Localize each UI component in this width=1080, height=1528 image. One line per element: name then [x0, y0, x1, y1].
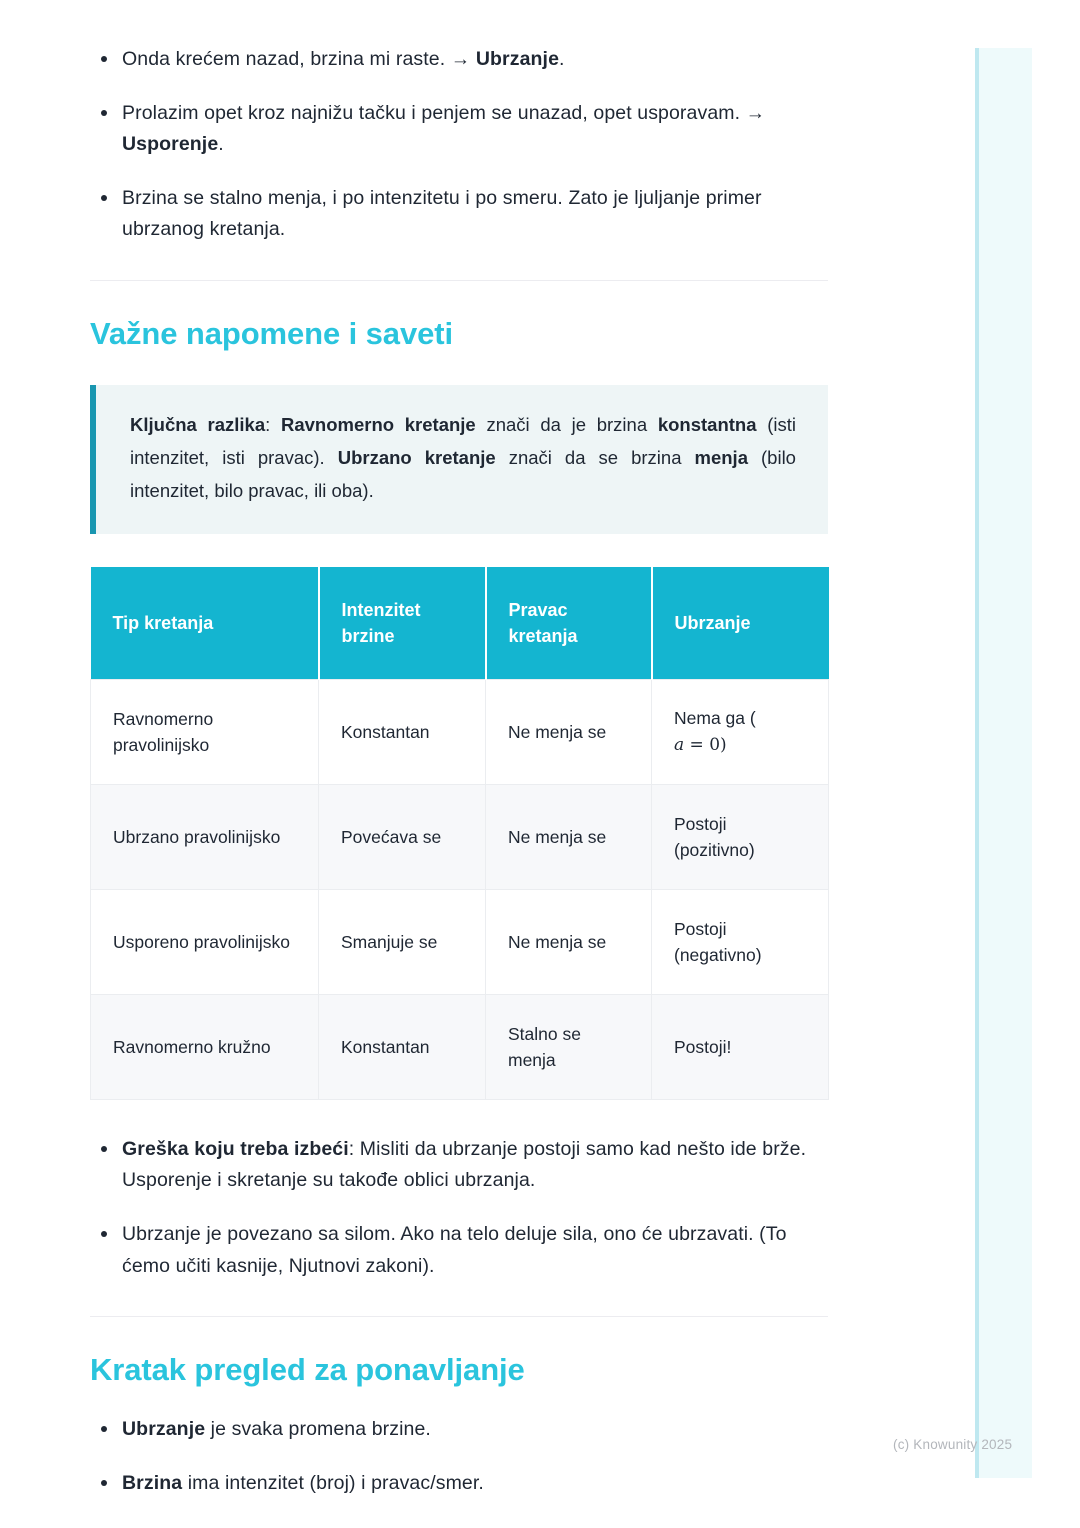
section-divider-bottom — [90, 1316, 828, 1317]
cell-pravac-kretanja: Stalno se menja — [486, 994, 652, 1099]
body-text: : — [265, 414, 281, 435]
cell-tip-kretanja: Ravnomerno kružno — [91, 994, 319, 1099]
bullet-dot-icon — [101, 56, 107, 62]
page-content: Onda krećem nazad, brzina mi raste. → Ub… — [90, 44, 830, 1500]
table-row: Usporeno pravolinijskoSmanjuje seNe menj… — [91, 889, 829, 994]
body-text: je svaka promena brzine. — [205, 1418, 431, 1440]
bullet-dot-icon — [101, 1426, 107, 1432]
table-header-row: Tip kretanja Intenzitet brzine Pravac kr… — [91, 567, 829, 680]
table-header-intenzitet-brzine: Intenzitet brzine — [319, 567, 486, 680]
bullet-dot-icon — [101, 1146, 107, 1152]
table-header-pravac-kretanja: Pravac kretanja — [486, 567, 652, 680]
body-text: . — [559, 48, 565, 70]
list-item: Brzina ima intenzitet (broj) i pravac/sm… — [90, 1468, 830, 1500]
body-text: Ubrzanje je povezano sa silom. Ako na te… — [122, 1223, 787, 1277]
table-row: Ravnomerno kružnoKonstantanStalno se men… — [91, 994, 829, 1099]
bullet-dot-icon — [101, 195, 107, 201]
list-item: Greška koju treba izbeći: Misliti da ubr… — [90, 1134, 830, 1197]
cell-intenzitet-brzine: Konstantan — [319, 679, 486, 784]
cell-tip-kretanja: Ubrzano pravolinijsko — [91, 784, 319, 889]
cell-pravac-kretanja: Ne menja se — [486, 889, 652, 994]
emphasis-text: menja — [695, 447, 748, 468]
table-header-ubrzanje: Ubrzanje — [652, 567, 829, 680]
cell-tip-kretanja: Usporeno pravolinijsko — [91, 889, 319, 994]
list-item: Ubrzanje je povezano sa silom. Ako na te… — [90, 1219, 830, 1282]
emphasis-text: Usporenje — [122, 133, 218, 155]
callout-text: Ključna razlika: Ravnomerno kretanje zna… — [130, 409, 796, 508]
bullet-dot-icon — [101, 1480, 107, 1486]
note-page: Onda krećem nazad, brzina mi raste. → Ub… — [0, 0, 1080, 1528]
table-header-tip-kretanja: Tip kretanja — [91, 567, 319, 680]
body-text: znači da se brzina — [496, 447, 695, 468]
cell-intenzitet-brzine: Smanjuje se — [319, 889, 486, 994]
list-item: Brzina se stalno menja, i po intenzitetu… — [90, 183, 830, 246]
motion-comparison-table: Tip kretanja Intenzitet brzine Pravac kr… — [90, 567, 829, 1100]
cell-tip-kretanja: Ravnomerno pravolinijsko — [91, 679, 319, 784]
body-text: Prolazim opet kroz najnižu tačku i penje… — [122, 102, 765, 124]
cell-intenzitet-brzine: Povećava se — [319, 784, 486, 889]
list-item: Ubrzanje je svaka promena brzine. — [90, 1414, 830, 1446]
cell-pravac-kretanja: Ne menja se — [486, 784, 652, 889]
emphasis-text: Ubrzanje — [476, 48, 559, 70]
bullet-dot-icon — [101, 1231, 107, 1237]
body-text: Brzina se stalno menja, i po intenzitetu… — [122, 187, 762, 241]
body-text: ima intenzitet (broj) i pravac/smer. — [182, 1472, 484, 1494]
summary-section-title: Kratak pregled za ponavljanje — [90, 1351, 830, 1388]
right-decorative-panel — [975, 48, 1032, 1478]
emphasis-text: Ključna razlika — [130, 414, 265, 435]
after-table-bullet-list: Greška koju treba izbeći: Misliti da ubr… — [90, 1134, 830, 1282]
emphasis-text: konstantna — [658, 414, 757, 435]
cell-pravac-kretanja: Ne menja se — [486, 679, 652, 784]
cell-intenzitet-brzine: Konstantan — [319, 994, 486, 1099]
body-text: . — [218, 133, 224, 155]
summary-bullet-list: Ubrzanje je svaka promena brzine.Brzina … — [90, 1414, 830, 1499]
emphasis-text: Ubrzanje — [122, 1418, 205, 1440]
emphasis-text: Ravnomerno kretanje — [281, 414, 476, 435]
math-expression: = 0) — [684, 735, 727, 755]
copyright-watermark: (c) Knowunity 2025 — [893, 1437, 1012, 1452]
list-item: Onda krećem nazad, brzina mi raste. → Ub… — [90, 44, 830, 76]
body-text: znači da je brzina — [476, 414, 658, 435]
cell-ubrzanje: Postoji! — [652, 994, 829, 1099]
bullet-dot-icon — [101, 110, 107, 116]
intro-bullet-list: Onda krećem nazad, brzina mi raste. → Ub… — [90, 44, 830, 246]
key-difference-callout: Ključna razlika: Ravnomerno kretanje zna… — [90, 385, 828, 534]
cell-ubrzanje: Postoji (negativno) — [652, 889, 829, 994]
math-variable: a — [674, 735, 684, 755]
table-row: Ubrzano pravolinijskoPovećava seNe menja… — [91, 784, 829, 889]
emphasis-text: Brzina — [122, 1472, 182, 1494]
section-divider-top — [90, 280, 828, 281]
list-item: Prolazim opet kroz najnižu tačku i penje… — [90, 98, 830, 161]
cell-ubrzanje: Postoji (pozitivno) — [652, 784, 829, 889]
cell-ubrzanje: Nema ga (a = 0) — [652, 679, 829, 784]
body-text: Onda krećem nazad, brzina mi raste. → — [122, 48, 476, 70]
emphasis-text: Greška koju treba izbeći — [122, 1138, 349, 1160]
emphasis-text: Ubrzano kretanje — [338, 447, 496, 468]
table-row: Ravnomerno pravolinijskoKonstantanNe men… — [91, 679, 829, 784]
notes-section-title: Važne napomene i saveti — [90, 315, 830, 352]
